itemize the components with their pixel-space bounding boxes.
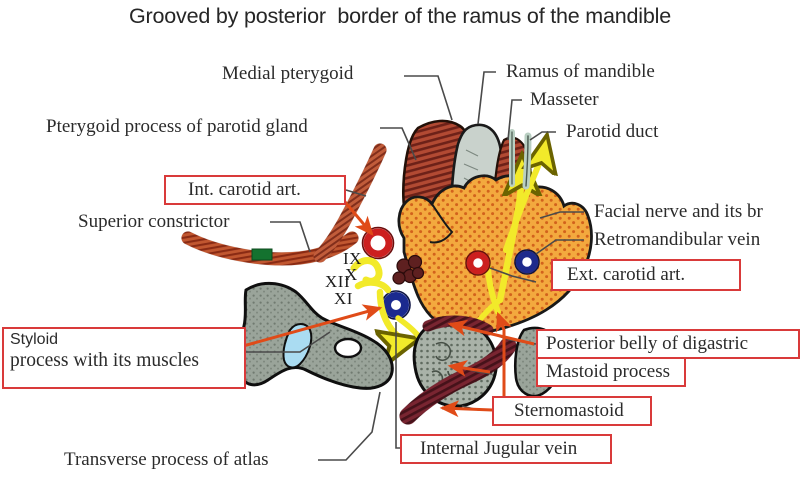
- nerve-label-xi: XI: [334, 289, 353, 309]
- leader-ramus: [478, 72, 496, 124]
- label-transverse-process-atlas: Transverse process of atlas: [64, 450, 269, 469]
- boxed-label-sternomastoid[interactable]: Sternomastoid: [492, 396, 652, 426]
- boxed-label-styloid-line2: process with its muscles: [10, 351, 238, 371]
- page-title: Grooved by posterior border of the ramus…: [0, 4, 800, 29]
- leader-parotid-duct: [530, 132, 556, 140]
- label-superior-constrictor: Superior constrictor: [78, 212, 229, 231]
- arrow-sternomastoid: [442, 408, 492, 410]
- boxed-label-ext-carotid-text: Ext. carotid art.: [567, 265, 685, 285]
- label-retromandibular-vein: Retromandibular vein: [594, 230, 760, 249]
- boxed-label-ext-carotid-artery[interactable]: Ext. carotid art.: [551, 259, 741, 291]
- boxed-label-styloid-line1: Styloid: [10, 332, 238, 349]
- leader-superior-constrictor: [270, 222, 310, 252]
- atlas-transverse-process-shape: [238, 283, 392, 388]
- internal-carotid-artery-shape: [363, 228, 394, 259]
- boxed-label-internal-jugular-text: Internal Jugular vein: [420, 439, 577, 459]
- boxed-label-int-carotid-artery[interactable]: Int. carotid art.: [164, 175, 346, 205]
- label-medial-pterygoid: Medial pterygoid: [222, 64, 353, 83]
- boxed-label-int-carotid-text: Int. carotid art.: [188, 180, 301, 200]
- label-pterygoid-process: Pterygoid process of parotid gland: [46, 117, 308, 136]
- external-carotid-artery-shape: [466, 251, 490, 275]
- boxed-label-posterior-belly-digastric[interactable]: Posterior belly of digastric: [536, 329, 800, 359]
- label-parotid-duct: Parotid duct: [566, 122, 658, 141]
- boxed-label-sternomastoid-text: Sternomastoid: [514, 401, 624, 421]
- boxed-label-styloid-process[interactable]: Styloid process with its muscles: [2, 327, 246, 389]
- boxed-label-internal-jugular-vein[interactable]: Internal Jugular vein: [400, 434, 612, 464]
- label-ramus-of-mandible: Ramus of mandible: [506, 62, 655, 81]
- diagram-canvas: Grooved by posterior border of the ramus…: [0, 0, 800, 486]
- boxed-label-posterior-belly-text: Posterior belly of digastric: [546, 334, 748, 354]
- label-masseter: Masseter: [530, 90, 599, 109]
- boxed-label-mastoid-text: Mastoid process: [546, 362, 670, 382]
- leader-medial-pterygoid: [404, 76, 452, 120]
- retromandibular-vein-shape: [515, 250, 539, 274]
- leader-transverse-atlas: [318, 392, 380, 460]
- label-facial-nerve: Facial nerve and its br: [594, 202, 763, 221]
- boxed-label-mastoid-process[interactable]: Mastoid process: [536, 357, 686, 387]
